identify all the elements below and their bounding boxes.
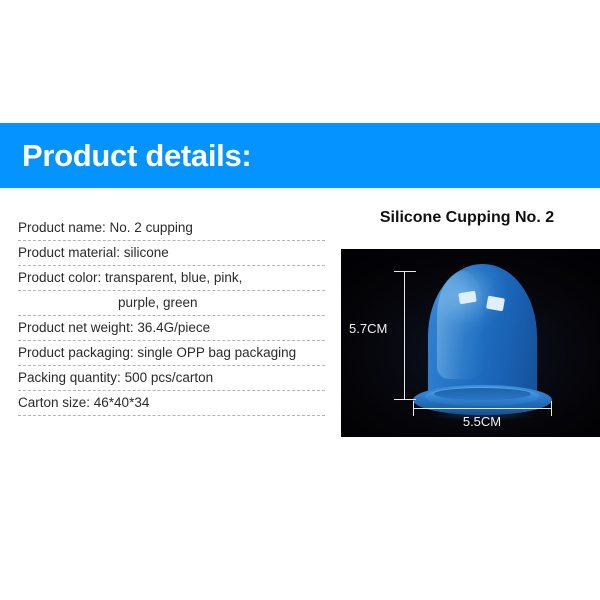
specification-list: Product name: No. 2 cupping Product mate… bbox=[18, 216, 325, 416]
spec-text: Product name: No. 2 cupping bbox=[18, 221, 193, 235]
width-dimension-cap-right bbox=[551, 401, 552, 416]
height-dimension-label: 5.7CM bbox=[349, 322, 387, 335]
width-dimension-line bbox=[413, 408, 552, 409]
spec-row: Packing quantity: 500 pcs/carton bbox=[18, 366, 325, 391]
spec-row: Product packaging: single OPP bag packag… bbox=[18, 341, 325, 366]
spec-row: Product name: No. 2 cupping bbox=[18, 216, 325, 241]
spec-text: Packing quantity: 500 pcs/carton bbox=[18, 371, 213, 385]
height-dimension-cap-top bbox=[394, 271, 416, 272]
cup-base-rim-top bbox=[434, 388, 531, 400]
spec-row-continuation: purple, green bbox=[18, 291, 325, 316]
spec-text: Product net weight: 36.4G/piece bbox=[18, 321, 210, 335]
spec-text: Product color: transparent, blue, pink, bbox=[18, 271, 242, 285]
spec-row: Product color: transparent, blue, pink, bbox=[18, 266, 325, 291]
height-dimension-cap-bottom bbox=[394, 399, 416, 400]
product-name-heading: Silicone Cupping No. 2 bbox=[341, 210, 593, 226]
spec-text: Product packaging: single OPP bag packag… bbox=[18, 346, 296, 360]
spec-text: Product material: silicone bbox=[18, 246, 169, 260]
spec-row: Product net weight: 36.4G/piece bbox=[18, 316, 325, 341]
spec-row: Carton size: 46*40*34 bbox=[18, 391, 325, 416]
spec-text: Carton size: 46*40*34 bbox=[18, 396, 149, 410]
width-dimension-label: 5.5CM bbox=[341, 415, 600, 428]
spec-row: Product material: silicone bbox=[18, 241, 325, 266]
product-details-banner: Product details: bbox=[0, 123, 600, 188]
product-photo: 5.7CM 5.5CM bbox=[341, 249, 600, 437]
width-dimension-cap-left bbox=[413, 401, 414, 416]
page-title: Product details: bbox=[22, 140, 251, 171]
cup-sheen bbox=[437, 271, 483, 379]
height-dimension-line bbox=[404, 271, 405, 399]
spec-text: purple, green bbox=[118, 296, 198, 310]
cup-highlight-icon bbox=[486, 296, 505, 312]
product-image-panel: Silicone Cupping No. 2 5.7CM 5.5CM bbox=[341, 210, 600, 236]
